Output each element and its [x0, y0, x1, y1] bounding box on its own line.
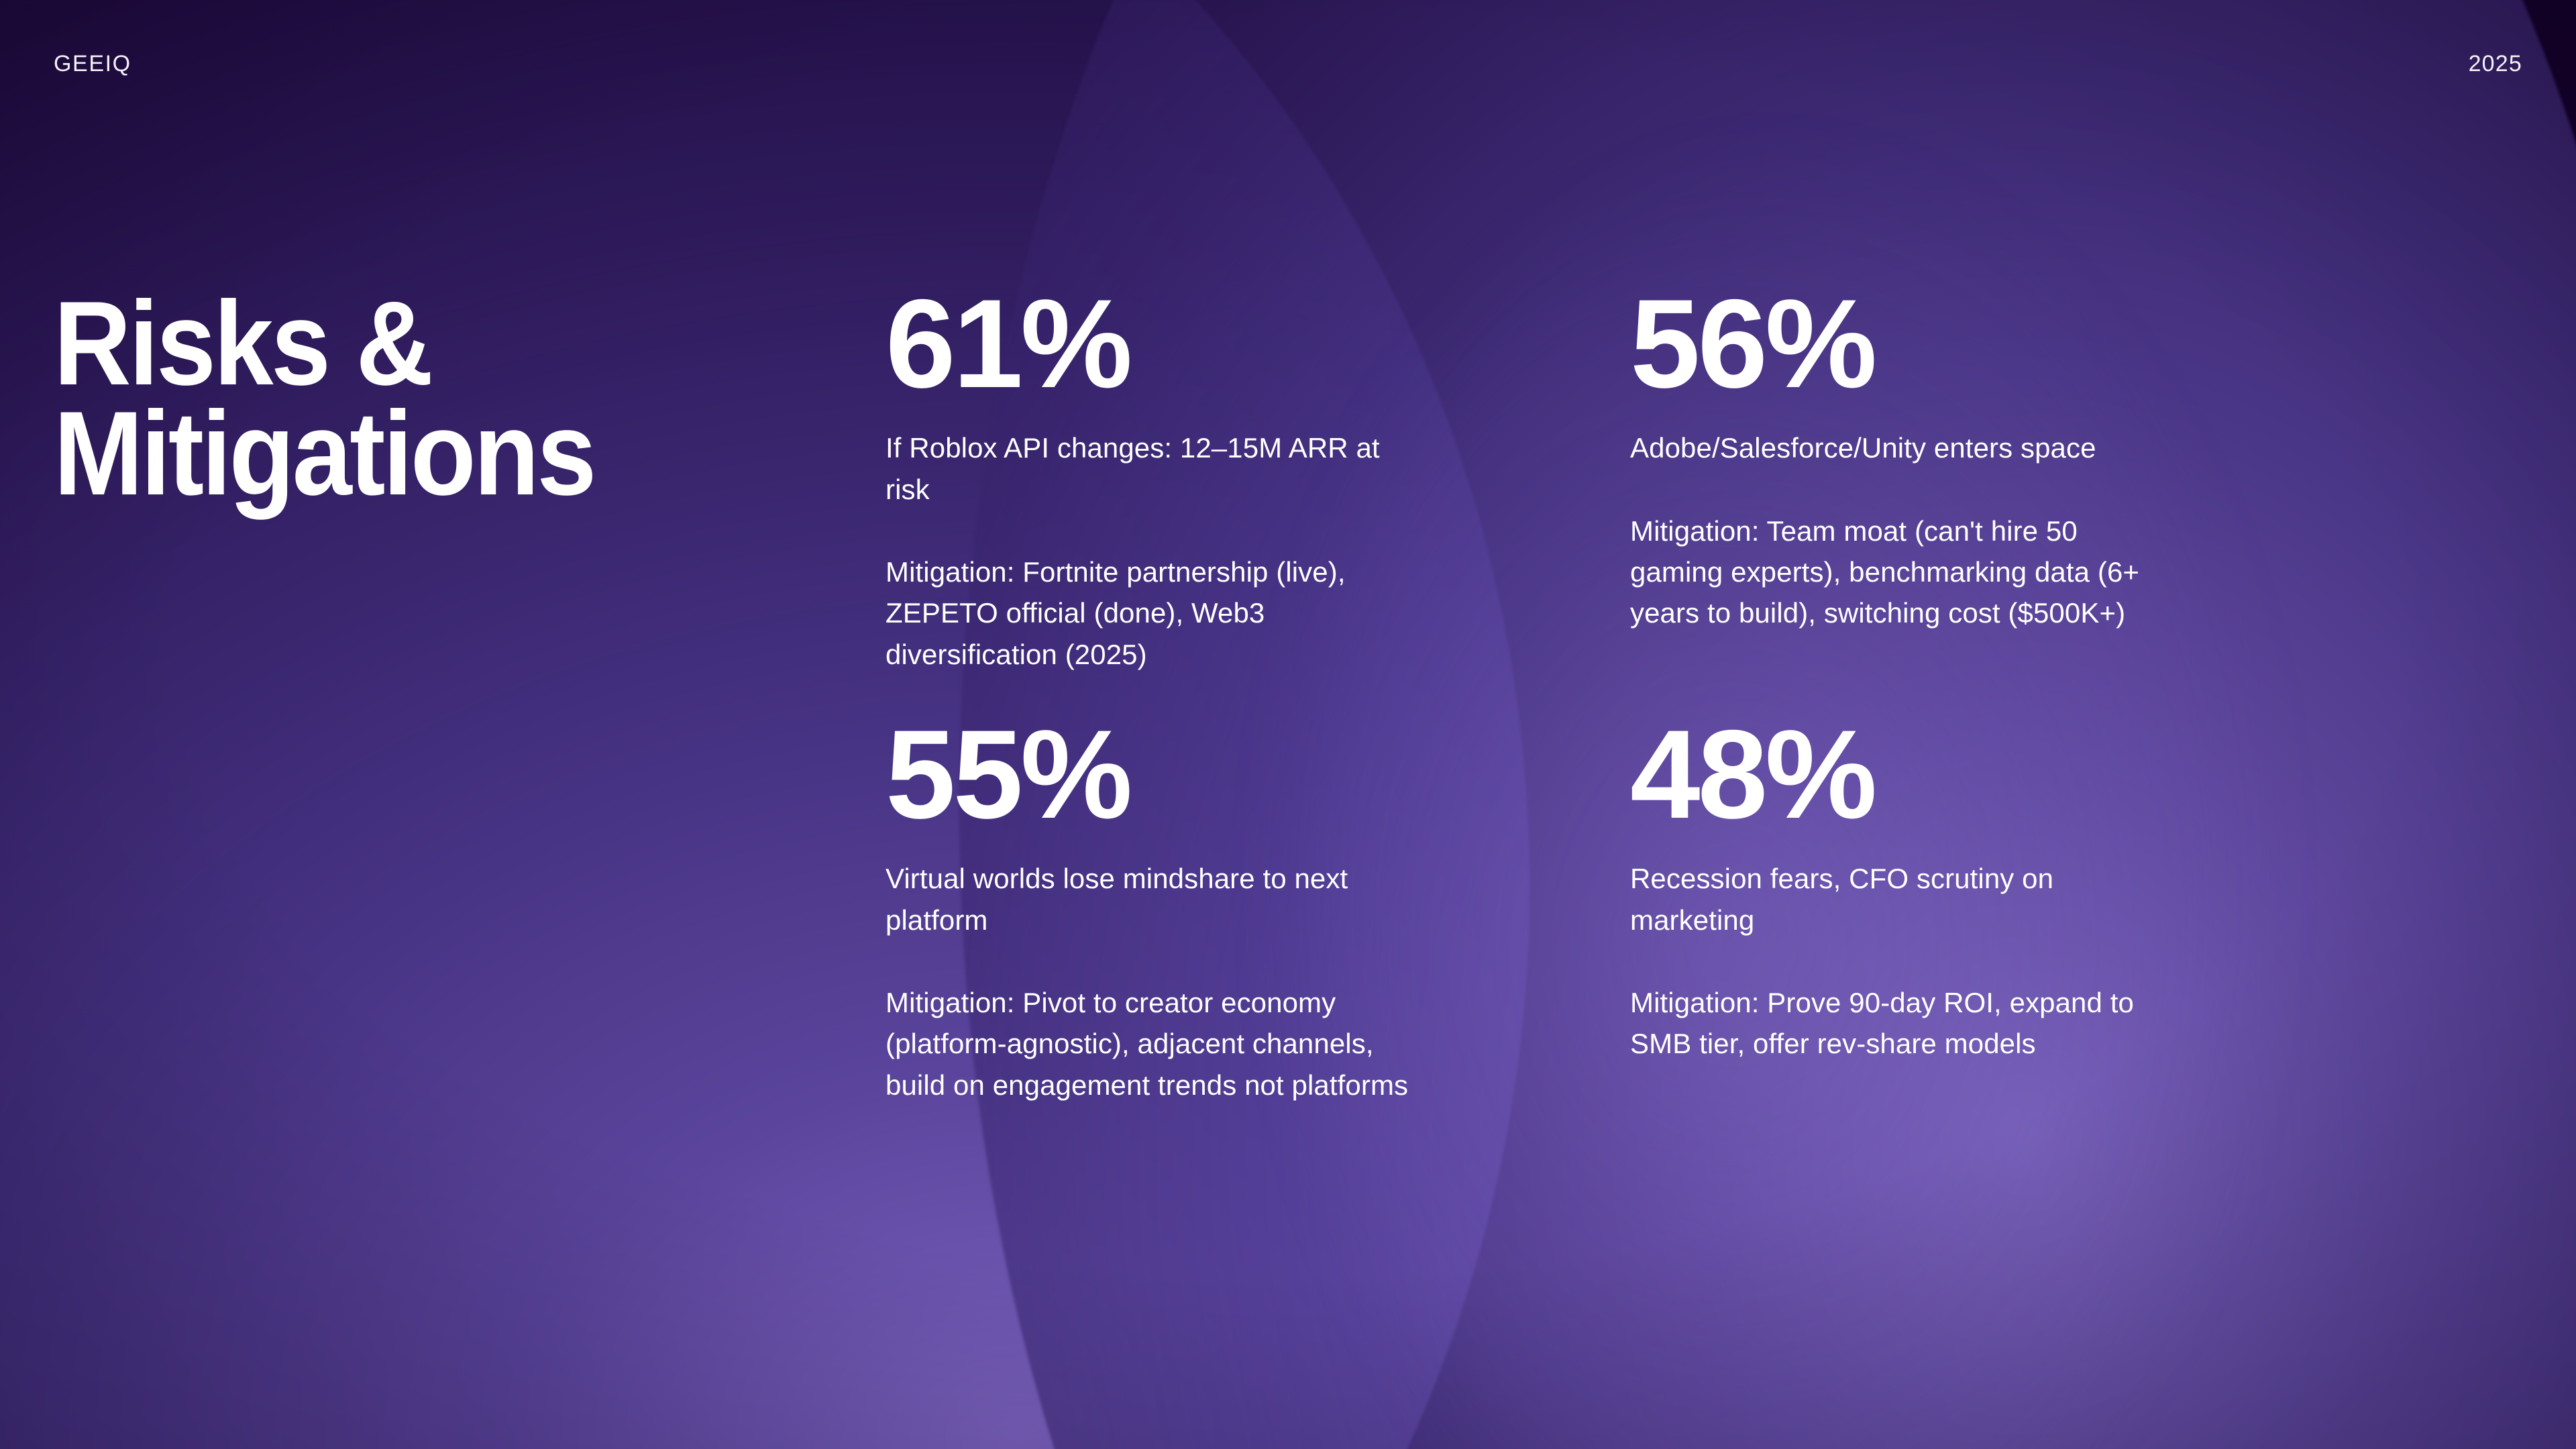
- stat-mitigation: Mitigation: Prove 90-day ROI, expand to …: [1630, 982, 2160, 1065]
- stat-card: 48% Recession fears, CFO scrutiny on mar…: [1630, 719, 2160, 1106]
- stats-grid: 61% If Roblox API changes: 12–15M ARR at…: [885, 288, 2522, 1106]
- slide-root: GEEIQ 2025 Risks & Mitigations 61% If Ro…: [0, 0, 2576, 1449]
- stat-card: 61% If Roblox API changes: 12–15M ARR at…: [885, 288, 1415, 675]
- slide-header: GEEIQ 2025: [0, 0, 2576, 127]
- stat-risk: If Roblox API changes: 12–15M ARR at ris…: [885, 427, 1415, 510]
- stats-column: 61% If Roblox API changes: 12–15M ARR at…: [885, 127, 2522, 1449]
- stat-value: 61%: [885, 288, 1415, 399]
- stat-card: 55% Virtual worlds lose mindshare to nex…: [885, 719, 1415, 1106]
- stat-risk: Recession fears, CFO scrutiny on marketi…: [1630, 858, 2160, 941]
- stat-risk: Adobe/Salesforce/Unity enters space: [1630, 427, 2160, 468]
- stat-value: 55%: [885, 719, 1415, 830]
- stat-mitigation: Mitigation: Team moat (can't hire 50 gam…: [1630, 511, 2160, 634]
- stat-card: 56% Adobe/Salesforce/Unity enters space …: [1630, 288, 2160, 675]
- stat-mitigation: Mitigation: Fortnite partnership (live),…: [885, 551, 1415, 675]
- title-column: Risks & Mitigations: [54, 127, 885, 1449]
- page-title: Risks & Mitigations: [54, 288, 802, 508]
- brand-logo: GEEIQ: [54, 51, 131, 77]
- stat-value: 48%: [1630, 719, 2160, 830]
- stat-mitigation: Mitigation: Pivot to creator economy (pl…: [885, 982, 1415, 1106]
- stat-risk: Virtual worlds lose mindshare to next pl…: [885, 858, 1415, 941]
- slide-body: Risks & Mitigations 61% If Roblox API ch…: [0, 127, 2576, 1449]
- stat-value: 56%: [1630, 288, 2160, 399]
- year-label: 2025: [2469, 51, 2522, 77]
